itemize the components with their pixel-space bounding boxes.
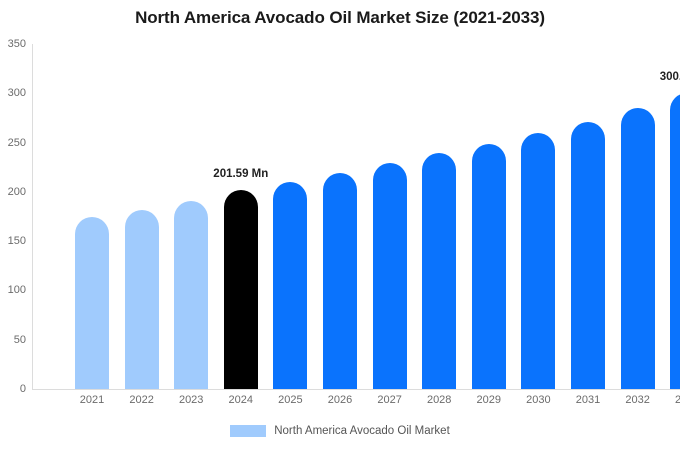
- bar-2029[interactable]: [472, 144, 506, 389]
- y-axis-tick-label: 300: [0, 87, 26, 99]
- x-axis-tick-label: 2028: [427, 394, 451, 406]
- x-axis-tick-label: 2026: [328, 394, 352, 406]
- y-axis-tick-label: 0: [0, 383, 26, 395]
- y-axis-tick-label: 150: [0, 235, 26, 247]
- y-axis-tick-labels: 050100150200250300350: [0, 44, 26, 389]
- x-axis-tick-label: 2025: [278, 394, 302, 406]
- plot-area: [32, 44, 680, 389]
- x-axis-tick-label: 2032: [625, 394, 649, 406]
- x-axis-tick-label: 2029: [477, 394, 501, 406]
- chart-legend: North America Avocado Oil Market: [0, 425, 680, 437]
- bar-2021[interactable]: [75, 217, 109, 390]
- x-axis-tick-label: 2024: [229, 394, 253, 406]
- x-axis-tick-label: 2030: [526, 394, 550, 406]
- legend-item-label: North America Avocado Oil Market: [274, 425, 450, 437]
- bar-2024[interactable]: [224, 190, 258, 389]
- y-axis-tick-label: 250: [0, 137, 26, 149]
- chart-container: North America Avocado Oil Market Size (2…: [0, 0, 680, 450]
- y-axis-tick-label: 200: [0, 186, 26, 198]
- bar-2026[interactable]: [323, 173, 357, 389]
- bar-2031[interactable]: [571, 122, 605, 389]
- x-axis-tick-labels: 2021202220232024202520262027202820292030…: [32, 394, 680, 412]
- bar-2032[interactable]: [621, 108, 655, 389]
- x-axis-tick-label: 2022: [129, 394, 153, 406]
- x-axis-tick-label: 2023: [179, 394, 203, 406]
- x-axis-tick-label: 2027: [377, 394, 401, 406]
- bar-2030[interactable]: [521, 133, 555, 389]
- bar-2022[interactable]: [125, 210, 159, 389]
- legend-swatch-icon: [230, 425, 266, 437]
- bar-2023[interactable]: [174, 201, 208, 389]
- bar-2027[interactable]: [373, 163, 407, 389]
- x-axis-tick-label: 2021: [80, 394, 104, 406]
- bar-2033[interactable]: [670, 93, 680, 389]
- value-label-2033: 300.46 Mn: [660, 71, 680, 83]
- bar-2028[interactable]: [422, 153, 456, 389]
- value-label-2024: 201.59 Mn: [213, 168, 268, 180]
- chart-title: North America Avocado Oil Market Size (2…: [0, 8, 680, 28]
- bar-2025[interactable]: [273, 182, 307, 389]
- x-axis-tick-label: 2031: [576, 394, 600, 406]
- x-axis-line: [32, 389, 680, 390]
- y-axis-tick-label: 100: [0, 284, 26, 296]
- x-axis-tick-label: 2033: [675, 394, 680, 406]
- y-axis-tick-label: 350: [0, 38, 26, 50]
- y-axis-tick-label: 50: [0, 334, 26, 346]
- y-axis-line: [32, 44, 33, 389]
